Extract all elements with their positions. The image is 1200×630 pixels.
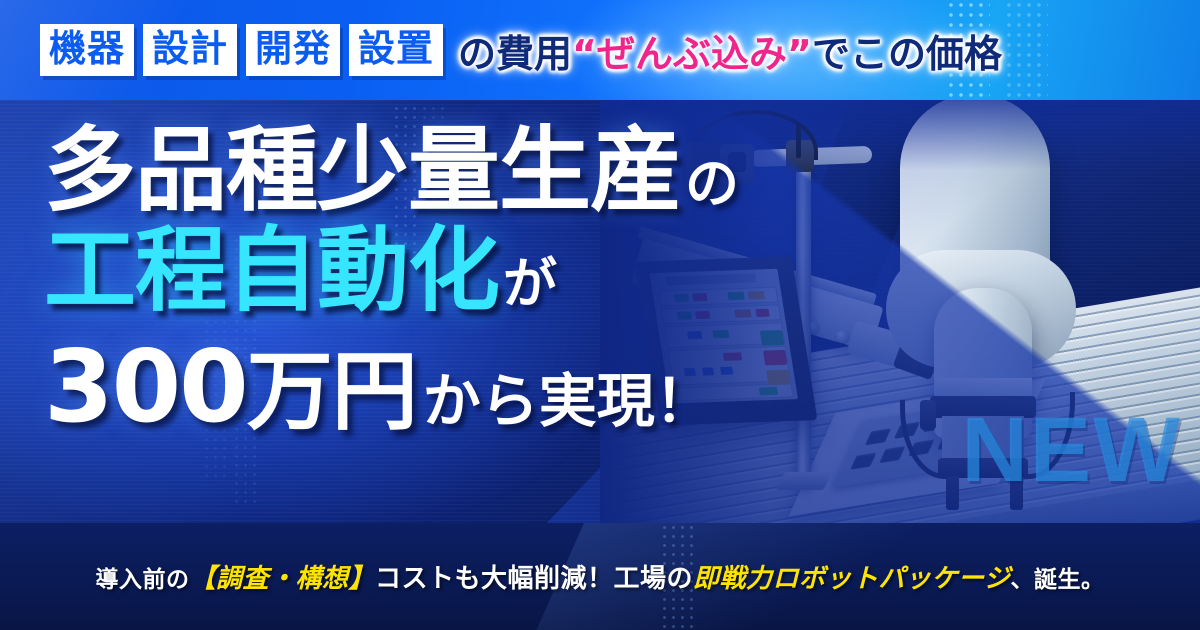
gripper-base [938, 458, 1028, 478]
headline-line2-suffix: が [503, 239, 557, 318]
headline-line-1: 多品種少量生産 の [44, 122, 844, 220]
cobot-end-effector [942, 416, 1024, 462]
header-tagline-before: の費用 [458, 32, 572, 76]
footer-seg-3: コストも大幅削減！工場の [375, 564, 693, 594]
tray-cell [850, 453, 876, 470]
tray-cell [865, 428, 891, 445]
feature-chip-development: 開発 [246, 24, 340, 76]
header-quote-open: “ [572, 32, 597, 76]
footer-tagline: 導入前の【調査・構想】コストも大幅削減！工場の即戦力ロボットパッケージ、誕生。 [95, 558, 1104, 595]
gripper-finger [946, 476, 959, 510]
footer-seg-2-highlight: 【調査・構想】 [189, 564, 375, 594]
headline-line2-main: 工程自動化 [44, 222, 499, 320]
headline-line-3: 300 万円 から実現！ [44, 321, 844, 446]
promo-banner: NEW 機器 設計 開発 設置 の費用“ぜんぶ込み”でこの価格 多品種少量生産 … [0, 0, 1200, 630]
headline-line1-suffix: の [685, 139, 739, 218]
footer-seg-4-highlight: 即戦力ロボットパッケージ [693, 564, 1010, 594]
price-unit: 万円 [247, 321, 417, 446]
feature-chip-installation: 設置 [349, 24, 443, 76]
price-number: 300 [44, 336, 247, 438]
bottom-footer-bar: 導入前の【調査・構想】コストも大幅削減！工場の即戦力ロボットパッケージ、誕生。 [0, 523, 1200, 630]
camera-pole-base [776, 472, 833, 490]
tray-cell [879, 446, 905, 463]
cobot-joint-band [934, 378, 1032, 396]
feature-chip-design: 設計 [143, 24, 237, 76]
headline-line1-main: 多品種少量生産 [44, 122, 681, 220]
header-quote-close: ” [787, 32, 812, 76]
main-headline: 多品種少量生産 の 工程自動化 が 300 万円 から実現！ [44, 122, 844, 446]
header-content: 機器 設計 開発 設置 の費用“ぜんぶ込み”でこの価格 [0, 0, 1200, 100]
header-tagline: の費用“ぜんぶ込み”でこの価格 [458, 23, 1002, 78]
footer-seg-1: 導入前の [95, 567, 189, 593]
feature-chip-equipment: 機器 [40, 24, 134, 76]
price-suffix: から実現！ [423, 354, 713, 438]
header-tagline-after: でこの価格 [812, 32, 1002, 76]
footer-seg-5: 、誕生。 [1011, 567, 1105, 593]
top-header-bar: 機器 設計 開発 設置 の費用“ぜんぶ込み”でこの価格 [0, 0, 1200, 100]
gripper-finger [1010, 476, 1023, 510]
headline-line-2: 工程自動化 が [44, 222, 844, 320]
header-tagline-highlight: ぜんぶ込み [597, 32, 787, 76]
